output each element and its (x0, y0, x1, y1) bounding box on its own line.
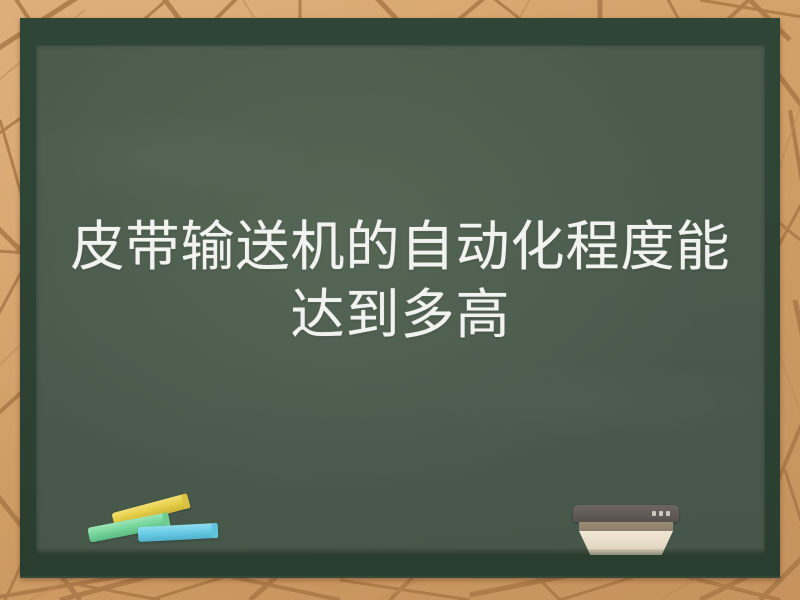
chalkboard-scene: 皮带输送机的自动化程度能达到多高 (0, 0, 800, 600)
blackboard-eraser (573, 505, 679, 555)
eraser-dot (652, 511, 656, 516)
eraser-handle (573, 505, 679, 522)
page-title: 皮带输送机的自动化程度能达到多高 (36, 213, 765, 349)
blackboard-surface: 皮带输送机的自动化程度能达到多高 (36, 45, 765, 555)
eraser-band (579, 522, 673, 531)
board-bottom-shadow (36, 549, 765, 555)
blackboard-frame: 皮带输送机的自动化程度能达到多高 (20, 18, 780, 578)
chalk-group (88, 495, 238, 555)
eraser-dot (659, 511, 663, 516)
eraser-dot (666, 511, 670, 516)
chalk-blue (138, 523, 219, 542)
eraser-dots-icon (652, 511, 670, 516)
chalk-yellow-end (181, 493, 191, 509)
chalk-blue-end (212, 523, 219, 538)
